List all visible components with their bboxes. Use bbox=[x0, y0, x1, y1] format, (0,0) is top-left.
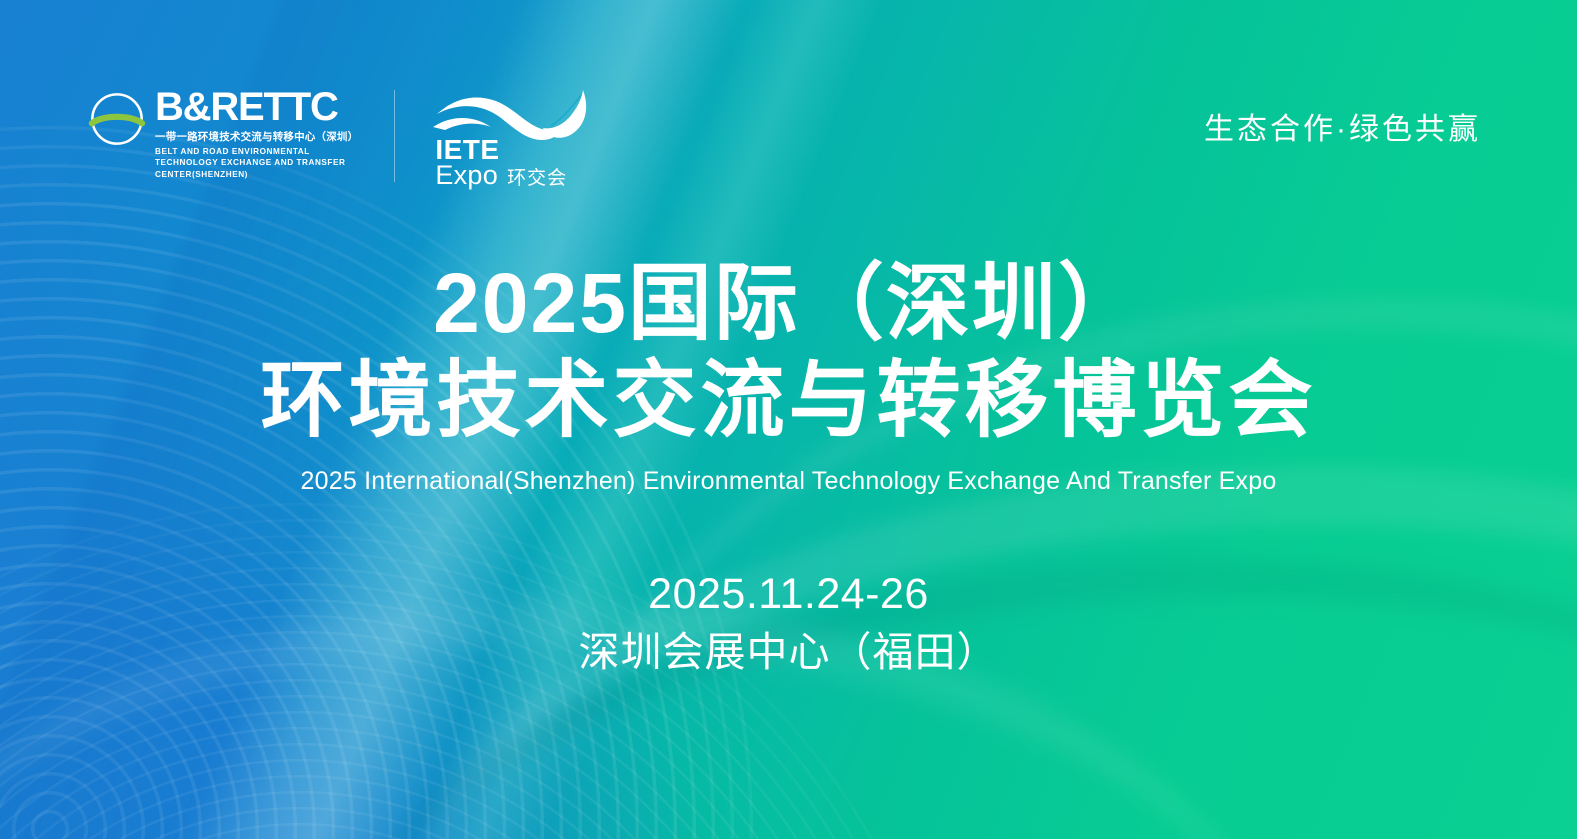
brettc-logo[interactable]: B&RETTC 一带一路环境技术交流与转移中心（深圳） BELT AND ROA… bbox=[88, 88, 358, 181]
brettc-english-line-1: BELT AND ROAD ENVIRONMENTAL bbox=[155, 146, 358, 158]
brettc-wordmark: B&RETTC bbox=[155, 89, 358, 126]
page-title-line-1: 2025国际（深圳） bbox=[0, 258, 1577, 349]
iete-expo-logo[interactable]: IETE Expo 环交会 bbox=[431, 88, 591, 188]
iete-expo-word: Expo bbox=[435, 162, 498, 189]
main-content: 2025国际（深圳） 环境技术交流与转移博览会 2025 Internation… bbox=[0, 258, 1577, 679]
logo-divider bbox=[394, 90, 395, 182]
iete-subtext-row: Expo 环交会 bbox=[435, 162, 567, 189]
page-subtitle-english: 2025 International(Shenzhen) Environment… bbox=[0, 467, 1577, 496]
event-banner: B&RETTC 一带一路环境技术交流与转移中心（深圳） BELT AND ROA… bbox=[0, 0, 1577, 839]
logo-group: B&RETTC 一带一路环境技术交流与转移中心（深圳） BELT AND ROA… bbox=[88, 88, 591, 188]
brettc-text-block: B&RETTC 一带一路环境技术交流与转移中心（深圳） BELT AND ROA… bbox=[155, 88, 358, 181]
event-date: 2025.11.24-26 bbox=[0, 568, 1577, 622]
event-venue: 深圳会展中心（福田） bbox=[0, 626, 1577, 678]
brettc-english-name: BELT AND ROAD ENVIRONMENTAL TECHNOLOGY E… bbox=[155, 146, 358, 181]
iete-chinese-word: 环交会 bbox=[507, 169, 567, 188]
event-details: 2025.11.24-26 深圳会展中心（福田） bbox=[0, 568, 1577, 678]
brettc-english-line-2: TECHNOLOGY EXCHANGE AND TRANSFER bbox=[155, 157, 358, 169]
brettc-english-line-3: CENTER(SHENZHEN) bbox=[155, 169, 358, 181]
page-title-line-2: 环境技术交流与转移博览会 bbox=[0, 355, 1577, 446]
slogan-text: 生态合作·绿色共赢 bbox=[1204, 104, 1481, 148]
brettc-chinese-name: 一带一路环境技术交流与转移中心（深圳） bbox=[155, 129, 358, 144]
globe-with-green-band-icon bbox=[88, 90, 146, 148]
